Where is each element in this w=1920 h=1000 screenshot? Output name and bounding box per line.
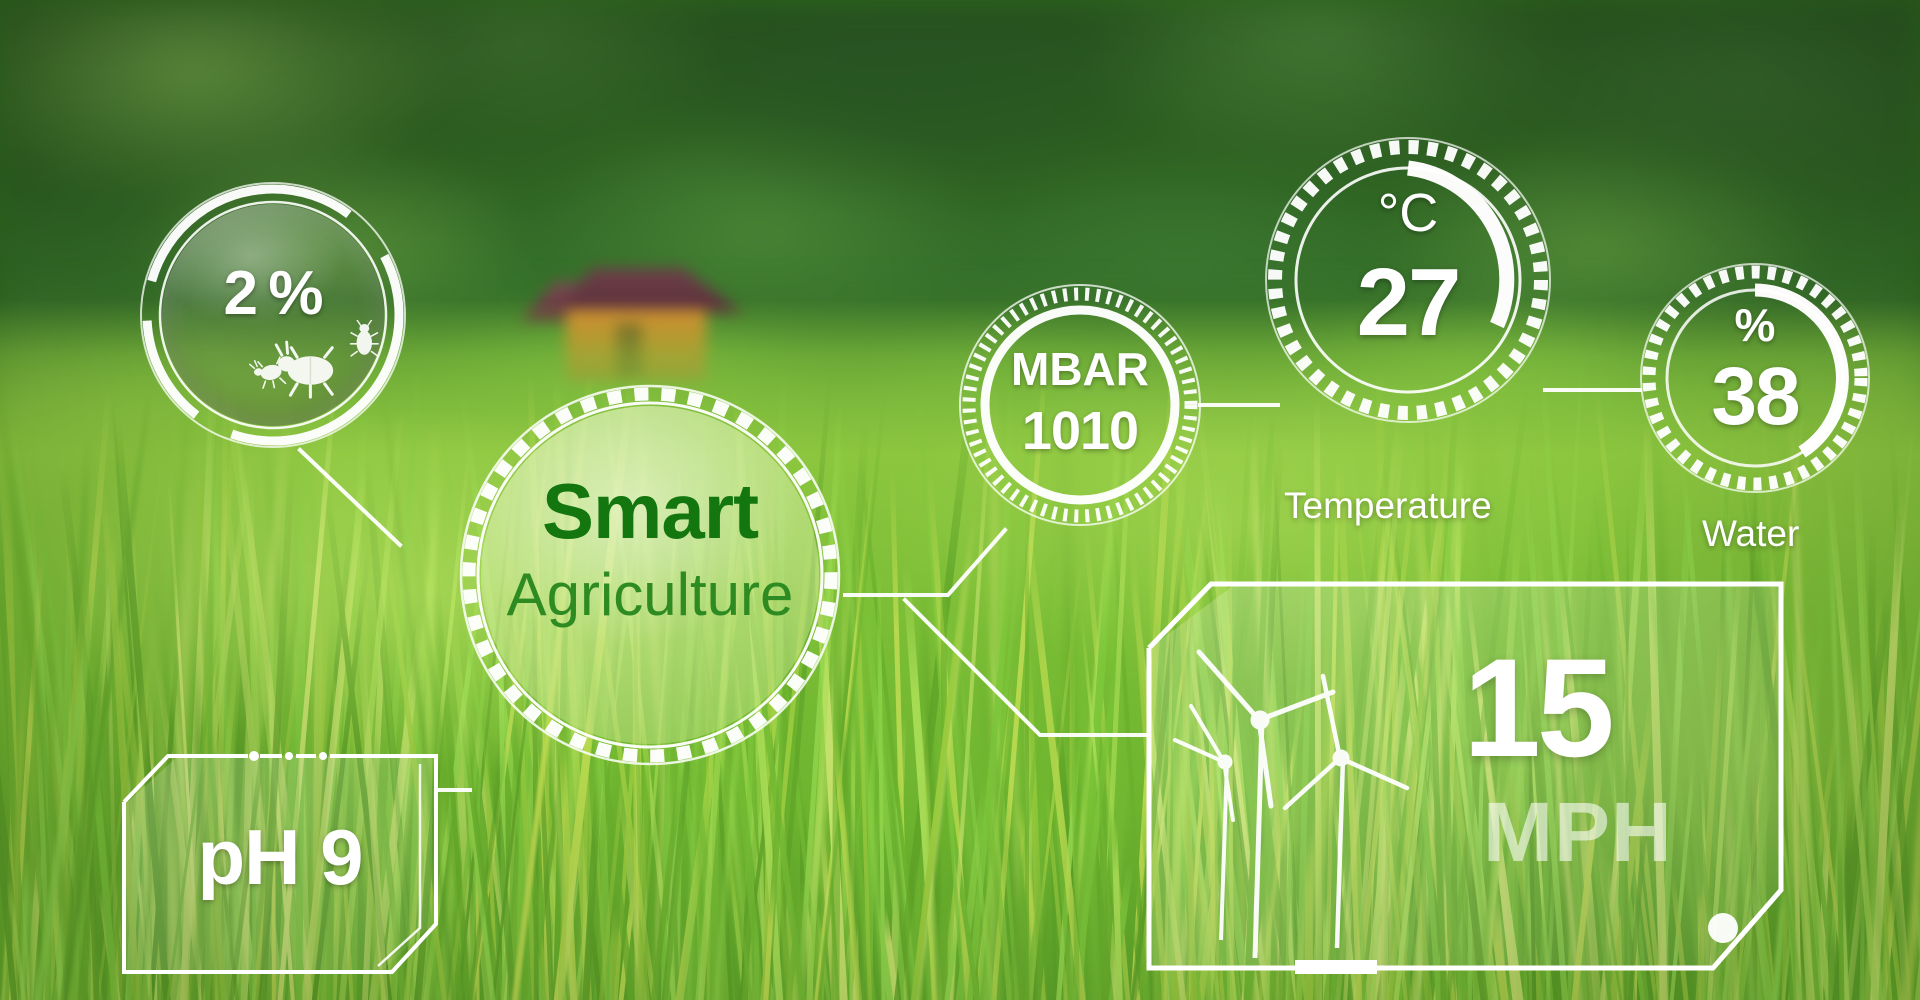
temperature-unit: °C	[1258, 182, 1558, 244]
hud-overlay: 2 %	[0, 0, 1920, 1000]
connector-brand-wind	[905, 600, 1145, 735]
temperature-caption: Temperature	[1284, 485, 1492, 527]
temperature-value: 27	[1258, 248, 1558, 358]
pest-value: 2 %	[138, 258, 408, 329]
wind-panel[interactable]: 15 MPH	[1145, 580, 1785, 1000]
brand-subtitle: Agriculture	[455, 565, 845, 625]
brand-circle[interactable]: Smart Agriculture	[455, 380, 845, 770]
connector-pest-brand	[300, 450, 400, 545]
pressure-unit: MBAR	[955, 342, 1205, 396]
water-unit: %	[1635, 298, 1875, 352]
ph-value: pH 9	[120, 812, 440, 903]
connector-brand-pressure	[845, 530, 1005, 595]
temperature-gauge[interactable]: °C 27	[1258, 130, 1558, 430]
smart-agriculture-infographic: 2 %	[0, 0, 1920, 1000]
pressure-value: 1010	[955, 400, 1205, 462]
wind-unit: MPH	[1483, 790, 1783, 874]
ph-panel[interactable]: pH 9	[120, 750, 440, 980]
water-caption: Water	[1702, 513, 1799, 555]
brand-title: Smart	[455, 472, 845, 550]
water-value: 38	[1635, 350, 1875, 444]
pest-gauge[interactable]: 2 %	[138, 180, 408, 450]
insects-icon	[246, 320, 386, 410]
water-gauge[interactable]: % 38	[1635, 258, 1875, 498]
pressure-gauge[interactable]: MBAR 1010	[955, 280, 1205, 530]
wind-value: 15	[1463, 638, 1763, 778]
wind-status-dot	[1708, 913, 1738, 943]
